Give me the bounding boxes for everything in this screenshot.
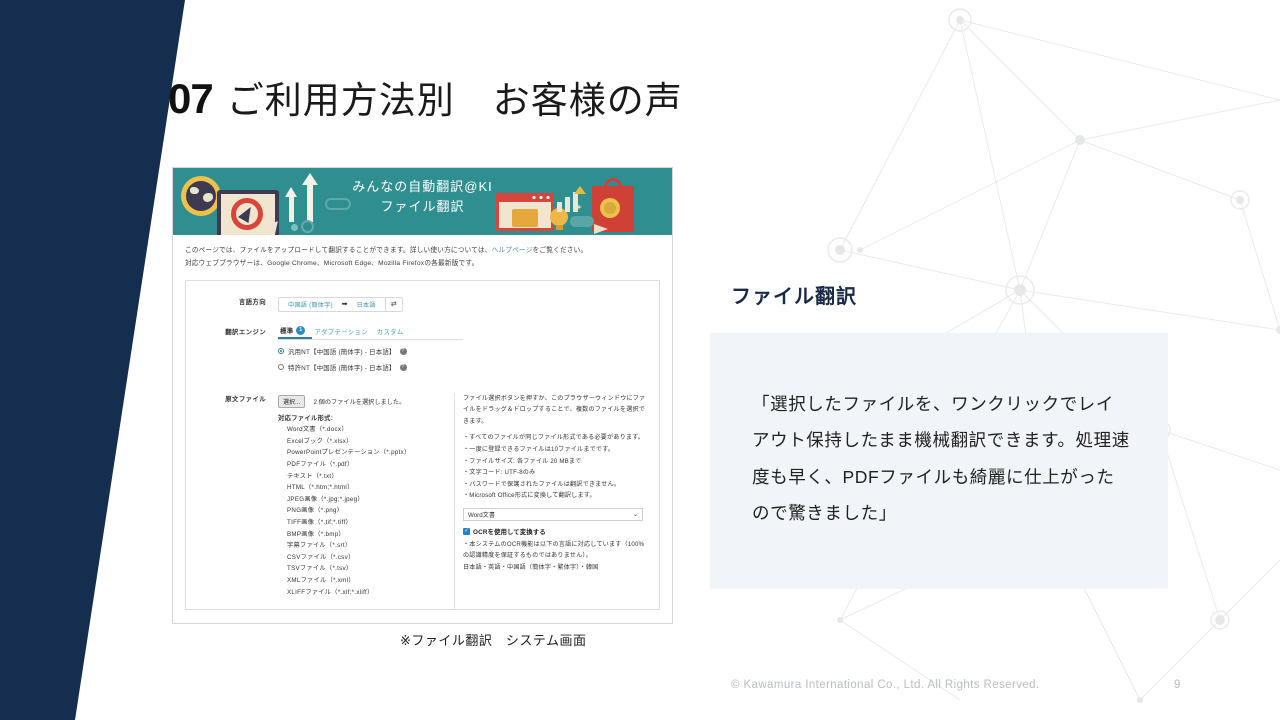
source-file-body: 選択... 2 個のファイルを選択しました。 対応ファイル形式: Word文書（… bbox=[278, 391, 453, 596]
screenshot-caption: ※ファイル翻訳 システム画面 bbox=[400, 630, 587, 649]
format-item: 字幕ファイル（*.srt） bbox=[278, 540, 445, 549]
tab-standard[interactable]: 標準 1 bbox=[278, 326, 312, 339]
format-item: PDFファイル（*.pdf） bbox=[278, 459, 445, 468]
format-item: Word文書（*.docx） bbox=[278, 424, 445, 433]
tab-custom[interactable]: カスタム bbox=[375, 327, 411, 339]
footer-copyright: © Kawamura International Co., Ltd. All R… bbox=[731, 679, 1040, 691]
ocr-languages: 日本語・英語・中国語（簡体字・繁体字）・韓国 bbox=[463, 562, 650, 574]
radio-patent-icon[interactable] bbox=[278, 364, 284, 370]
format-item: JPEG画像（*.jpg;*.jpeg） bbox=[278, 494, 445, 503]
format-item: PowerPointプレゼンテーション（*.pptx） bbox=[278, 447, 445, 456]
slide-title-text: ご利用方法別 お客様の声 bbox=[227, 82, 683, 119]
ocr-note: ・本システムのOCR機能は以下の言語に対応しています（100%の認識精度を保証す… bbox=[463, 539, 650, 562]
app-banner-title: みんなの自動翻訳@KI ファイル翻訳 bbox=[173, 177, 672, 217]
format-item: BMP画像（*.bmp） bbox=[278, 529, 445, 538]
radio-general-icon[interactable] bbox=[278, 348, 284, 354]
page-title: 07 ご利用方法別 お客様の声 bbox=[168, 78, 683, 120]
tab-custom-label: カスタム bbox=[377, 327, 404, 336]
file-picker-row: 選択... 2 個のファイルを選択しました。 bbox=[278, 391, 445, 409]
help-bullet: ・すべてのファイルが同じファイル形式である必要があります。 bbox=[463, 432, 650, 444]
source-language-value[interactable]: 中国語 (簡体字) bbox=[279, 300, 342, 309]
file-help-bullets: ・すべてのファイルが同じファイル形式である必要があります。・一度に登録できるファ… bbox=[463, 432, 650, 501]
language-direction-control[interactable]: 中国語 (簡体字) ➡ 日本語 ⇄ bbox=[278, 297, 403, 312]
format-item: HTML（*.htm;*.html） bbox=[278, 482, 445, 491]
output-format-value: Word文書 bbox=[468, 510, 495, 519]
target-language-value[interactable]: 日本語 bbox=[348, 300, 385, 309]
app-banner-title-line2: ファイル翻訳 bbox=[173, 197, 672, 217]
help-bullet: ・ファイルサイズ: 各ファイル 20 MBまで bbox=[463, 456, 650, 468]
language-direction-body: 中国語 (簡体字) ➡ 日本語 ⇄ bbox=[278, 294, 659, 312]
formats-title: 対応ファイル形式: bbox=[278, 413, 445, 422]
tab-adaptation-label: アダプテーション bbox=[314, 327, 367, 336]
engine-option-patent[interactable]: 特許NT【中国語 (簡体字) - 日本語】 ? bbox=[278, 363, 651, 372]
file-help-paragraph: ファイル選択ボタンを押すか、このブラウザーウィンドウにファイルをドラッグ＆ドロッ… bbox=[463, 393, 650, 428]
help-question-icon-1[interactable]: ? bbox=[400, 348, 407, 355]
language-direction-label: 言語方向 bbox=[186, 294, 278, 312]
file-help-column: ファイル選択ボタンを押すか、このブラウザーウィンドウにファイルをドラッグ＆ドロッ… bbox=[454, 393, 650, 609]
file-selected-status: 2 個のファイルを選択しました。 bbox=[313, 399, 405, 406]
app-intro-line1: このページでは、ファイルをアップロードして翻訳することができます。詳しい使い方に… bbox=[185, 245, 660, 258]
engine-option-general[interactable]: 汎用NT【中国語 (簡体字) - 日本語】 ? bbox=[278, 347, 651, 356]
slide-number: 07 bbox=[168, 78, 213, 120]
tab-standard-label: 標準 bbox=[280, 326, 293, 335]
engine-option-general-label: 汎用NT【中国語 (簡体字) - 日本語】 bbox=[288, 347, 396, 356]
cloud-filled-icon bbox=[570, 216, 594, 227]
app-banner: みんなの自動翻訳@KI ファイル翻訳 bbox=[173, 168, 672, 235]
engine-tabs: 標準 1 アダプテーション カスタム bbox=[278, 324, 463, 340]
swap-languages-icon[interactable]: ⇄ bbox=[385, 298, 402, 311]
format-item: XMLファイル（*.xml） bbox=[278, 575, 445, 584]
help-bullet: ・文字コード: UTF-8のみ bbox=[463, 467, 650, 479]
ocr-checkbox-row[interactable]: ✓ OCRを使用して変換する bbox=[463, 527, 650, 536]
output-format-select[interactable]: Word文書 ⌄ bbox=[463, 508, 643, 521]
format-item: TSVファイル（*.tsv） bbox=[278, 563, 445, 572]
format-item: Excelブック（*.xlsx） bbox=[278, 436, 445, 445]
app-intro-line1-a: このページでは、ファイルをアップロードして翻訳することができます。詳しい使い方に… bbox=[185, 247, 492, 254]
engine-label: 翻訳エンジン bbox=[186, 324, 278, 372]
tab-standard-badge: 1 bbox=[296, 326, 305, 335]
source-file-label: 原文ファイル bbox=[186, 391, 278, 596]
engine-row: 翻訳エンジン 標準 1 アダプテーション カスタム 汎用NT bbox=[186, 321, 659, 375]
format-item: TIFF画像（*.tif;*.tiff） bbox=[278, 517, 445, 526]
chevron-down-icon: ⌄ bbox=[633, 511, 638, 518]
engine-body: 標準 1 アダプテーション カスタム 汎用NT【中国語 (簡体字) - 日本語】… bbox=[278, 324, 659, 372]
help-question-icon-2[interactable]: ? bbox=[400, 364, 407, 371]
ocr-checkbox-label: OCRを使用して変換する bbox=[473, 527, 546, 536]
app-intro-line1-b: をご覧ください。 bbox=[533, 247, 588, 254]
translation-form-card: 言語方向 中国語 (簡体字) ➡ 日本語 ⇄ 翻訳エンジン 標準 1 bbox=[185, 280, 660, 610]
format-item: XLIFFファイル（*.xlf;*.xliff） bbox=[278, 587, 445, 596]
language-direction-row: 言語方向 中国語 (簡体字) ➡ 日本語 ⇄ bbox=[186, 291, 659, 315]
help-bullet: ・パスワードで保護されたファイルは翻訳できません。 bbox=[463, 479, 650, 491]
app-intro-text: このページでは、ファイルをアップロードして翻訳することができます。詳しい使い方に… bbox=[173, 235, 672, 275]
customer-quote-text: 「選択したファイルを、ワンクリックでレイアウト保持したまま機械翻訳できます。処理… bbox=[752, 386, 1130, 532]
checkbox-checked-icon[interactable]: ✓ bbox=[463, 528, 470, 535]
engine-option-patent-label: 特許NT【中国語 (簡体字) - 日本語】 bbox=[288, 363, 396, 372]
section-heading: ファイル翻訳 bbox=[731, 280, 857, 309]
app-banner-title-line1: みんなの自動翻訳@KI bbox=[173, 177, 672, 197]
supported-formats-list: Word文書（*.docx）Excelブック（*.xlsx）PowerPoint… bbox=[278, 424, 445, 595]
tab-adaptation[interactable]: アダプテーション bbox=[312, 327, 374, 339]
app-intro-line2: 対応ウェブブラウザーは、Google Chrome、Microsoft Edge… bbox=[185, 258, 660, 271]
format-item: PNG画像（*.png） bbox=[278, 505, 445, 514]
at-sign-icon bbox=[301, 220, 314, 233]
wifi-dot-icon bbox=[291, 224, 298, 231]
footer-page-number: 9 bbox=[1174, 679, 1180, 691]
format-item: CSVファイル（*.csv） bbox=[278, 552, 445, 561]
choose-file-button[interactable]: 選択... bbox=[278, 395, 305, 408]
paper-plane-icon bbox=[594, 224, 608, 234]
embedded-app-screenshot: みんなの自動翻訳@KI ファイル翻訳 このページでは、ファイルをアップロードして… bbox=[172, 167, 673, 624]
help-page-link[interactable]: ヘルプページ bbox=[492, 247, 533, 254]
help-bullet: ・一度に登録できるファイルは10ファイルまでです。 bbox=[463, 444, 650, 456]
help-bullet: ・Microsoft Office形式に変換して翻訳します。 bbox=[463, 490, 650, 502]
format-item: テキスト（*.txt） bbox=[278, 471, 445, 480]
